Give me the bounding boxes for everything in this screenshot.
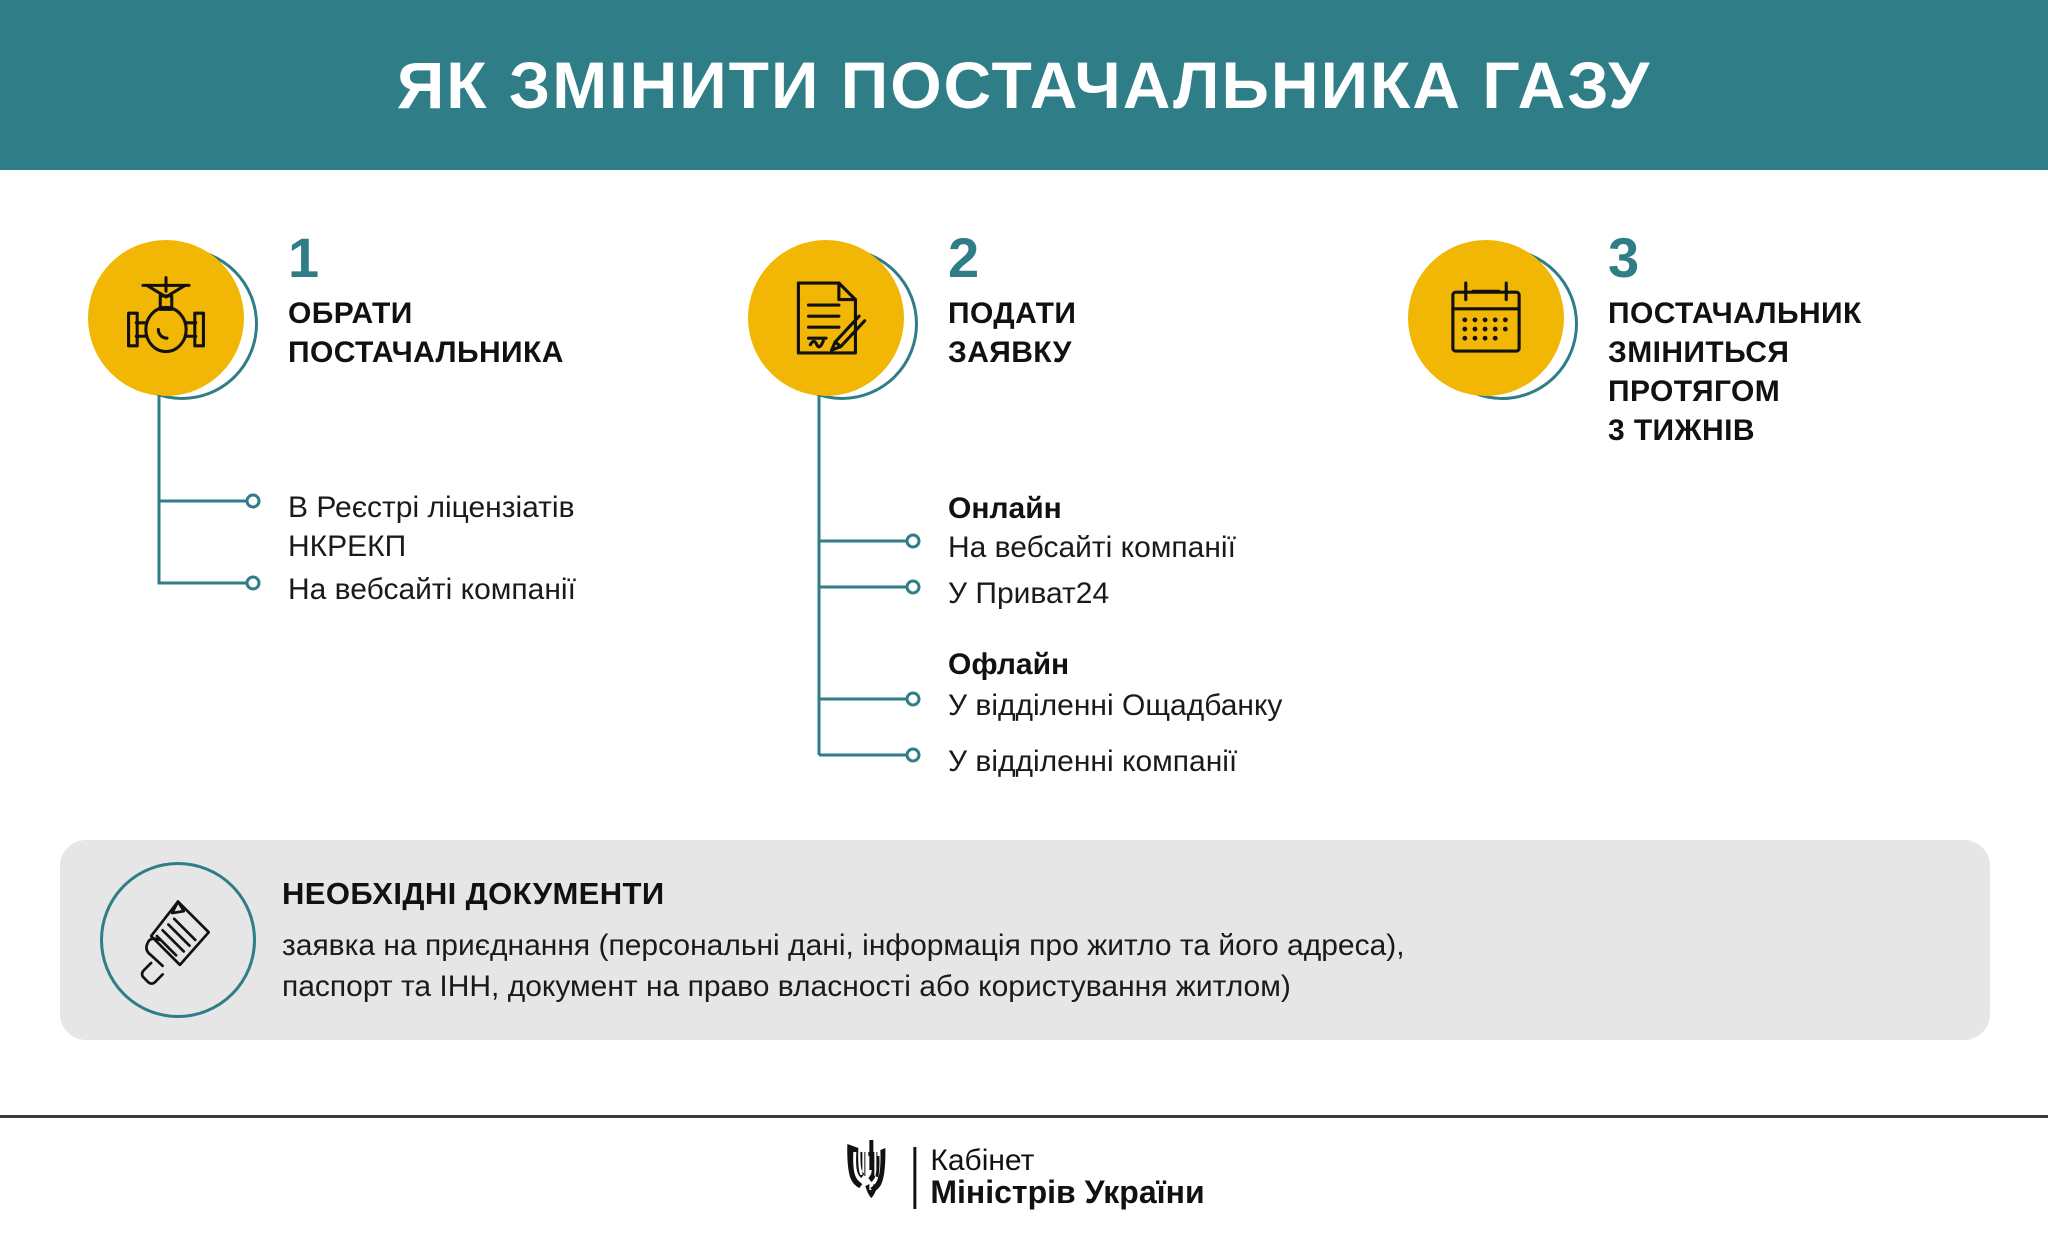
step-2-label: ПОДАТИ ЗАЯВКУ xyxy=(948,294,1408,372)
step-1-title-wrap: 1 ОБРАТИ ПОСТАЧАЛЬНИКА xyxy=(288,230,748,372)
step-3-badge-disc xyxy=(1408,240,1564,396)
step-3-label: ПОСТАЧАЛЬНИК ЗМІНИТЬСЯ ПРОТЯГОМ 3 ТИЖНІВ xyxy=(1608,294,2048,450)
step-1-badge-disc xyxy=(88,240,244,396)
calendar-icon xyxy=(1440,272,1532,364)
step-1-bullet-1: На вебсайті компанії xyxy=(288,570,718,609)
step-2-group-1-heading: Офлайн xyxy=(948,648,1069,682)
footer-text: Кабінет Міністрів України xyxy=(930,1145,1204,1211)
footer-vertical-divider xyxy=(913,1147,916,1209)
page-title: ЯК ЗМІНИТИ ПОСТАЧАЛЬНИКА ГАЗУ xyxy=(397,47,1651,123)
documents-panel-body: заявка на приєднання (персональні дані, … xyxy=(282,926,1922,1007)
step-1-bullet-0: В Реєстрі ліцензіатів НКРЕКП xyxy=(288,488,718,566)
step-2-title-wrap: 2 ПОДАТИ ЗАЯВКУ xyxy=(948,230,1408,372)
step-2: 2 ПОДАТИ ЗАЯВКУ Онлайн На вебсайті компа… xyxy=(748,240,1508,410)
hand-holding-document-icon xyxy=(130,890,226,991)
header-bar: ЯК ЗМІНИТИ ПОСТАЧАЛЬНИКА ГАЗУ xyxy=(0,0,2048,170)
step-2-badge xyxy=(748,240,908,400)
step-1: 1 ОБРАТИ ПОСТАЧАЛЬНИКА В Реєстрі ліцензі… xyxy=(88,240,708,410)
step-2-group-0-bullet-0: На вебсайті компанії xyxy=(948,528,1468,567)
footer-line-2: Міністрів України xyxy=(930,1176,1204,1210)
documents-panel: НЕОБХІДНІ ДОКУМЕНТИ заявка на приєднання… xyxy=(60,840,1990,1040)
infographic-root: ЯК ЗМІНИТИ ПОСТАЧАЛЬНИКА ГАЗУ xyxy=(0,0,2048,1237)
ukraine-trident-icon xyxy=(843,1138,899,1217)
step-1-badge xyxy=(88,240,248,400)
step-3-title-wrap: 3 ПОСТАЧАЛЬНИК ЗМІНИТЬСЯ ПРОТЯГОМ 3 ТИЖН… xyxy=(1608,230,2048,450)
step-2-badge-disc xyxy=(748,240,904,396)
step-2-number: 2 xyxy=(948,230,1408,286)
step-2-group-0-bullet-1: У Приват24 xyxy=(948,574,1468,613)
step-3-badge xyxy=(1408,240,1568,400)
step-1-number: 1 xyxy=(288,230,748,286)
footer-divider-rule xyxy=(0,1115,2048,1118)
footer-line-1: Кабінет xyxy=(930,1145,1204,1177)
step-2-group-1-bullet-1: У відділенні компанії xyxy=(948,742,1468,781)
step-3: 3 ПОСТАЧАЛЬНИК ЗМІНИТЬСЯ ПРОТЯГОМ 3 ТИЖН… xyxy=(1408,240,2008,410)
step-3-head: 3 ПОСТАЧАЛЬНИК ЗМІНИТЬСЯ ПРОТЯГОМ 3 ТИЖН… xyxy=(1408,240,2008,410)
hand-holding-document-icon-frame xyxy=(100,862,256,1018)
step-1-label: ОБРАТИ ПОСТАЧАЛЬНИКА xyxy=(288,294,748,372)
footer-logo: Кабінет Міністрів України xyxy=(843,1138,1204,1217)
step-2-group-0-heading: Онлайн xyxy=(948,492,1062,526)
document-pen-icon xyxy=(780,272,872,364)
step-2-head: 2 ПОДАТИ ЗАЯВКУ xyxy=(748,240,1508,410)
documents-panel-title: НЕОБХІДНІ ДОКУМЕНТИ xyxy=(282,876,665,912)
gas-valve-icon xyxy=(118,270,214,366)
step-2-group-1-bullet-0: У відділенні Ощадбанку xyxy=(948,686,1468,725)
step-1-connector-2 xyxy=(156,395,296,595)
step-3-number: 3 xyxy=(1608,230,2048,286)
step-1-head: 1 ОБРАТИ ПОСТАЧАЛЬНИКА xyxy=(88,240,708,410)
